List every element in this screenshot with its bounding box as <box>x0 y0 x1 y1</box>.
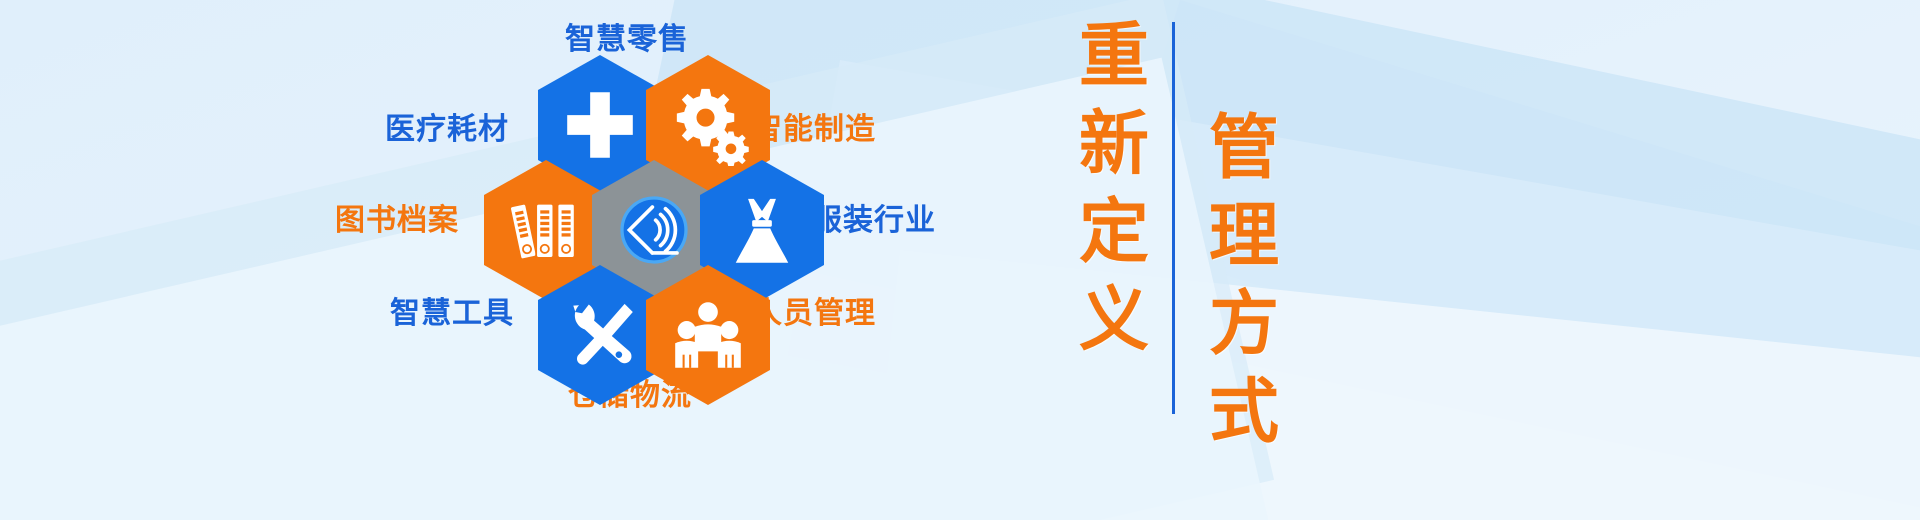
gears-icon <box>667 84 749 166</box>
medical-cross-icon <box>559 84 641 166</box>
binders-icon <box>505 189 587 271</box>
banner-root: 智慧零售 医疗耗材 智能制造 图书档案 服装行业 智慧工具 人员管理 仓储物流 <box>0 0 1920 520</box>
dress-icon <box>721 189 803 271</box>
label-books-archive: 图书档案 <box>335 195 459 239</box>
background-band-c <box>858 250 1920 520</box>
slogan-left-column: 重新定义 <box>1072 18 1146 370</box>
slogan-divider <box>1172 22 1175 414</box>
wrench-screwdriver-icon <box>559 294 641 376</box>
background-band-b <box>788 60 1920 520</box>
rfid-signal-logo-icon <box>613 189 695 271</box>
label-retail: 智慧零售 <box>565 14 689 58</box>
slogan-right-column: 管理方式 <box>1202 110 1276 462</box>
hexagon-cluster <box>460 55 940 415</box>
people-group-icon <box>667 294 749 376</box>
slogan-block: 重新定义 管理方式 <box>1050 0 1310 520</box>
